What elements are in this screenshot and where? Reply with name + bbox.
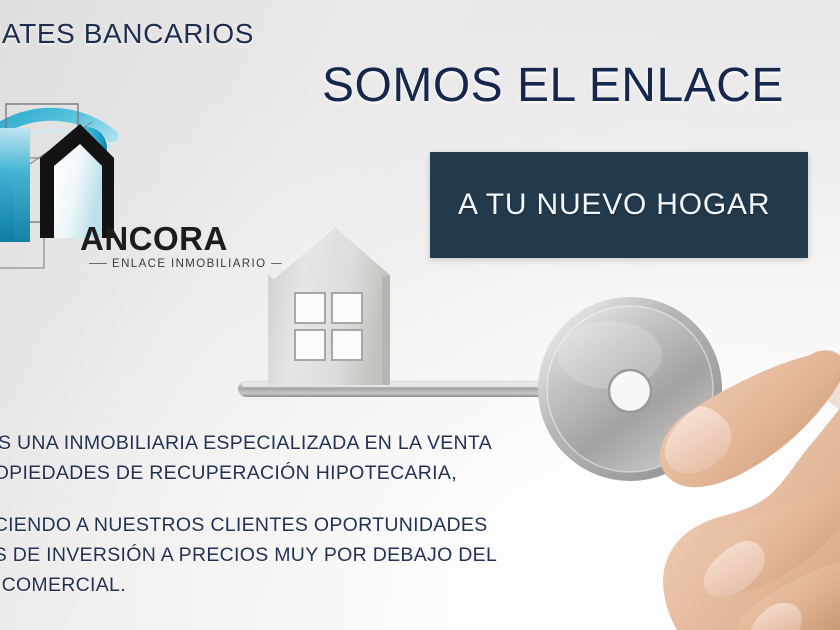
body-copy: MOS UNA INMOBILIARIA ESPECIALIZADA EN LA… [0, 428, 497, 600]
body-line-3: RECIENDO A NUESTROS CLIENTES OPORTUNIDAD… [0, 510, 497, 540]
ancora-logo: ANCORA ENLACE INMOBILIARIO [0, 62, 262, 222]
house-key-head [268, 223, 390, 385]
paragraph-spacer [0, 488, 497, 510]
body-line-4: CAS DE INVERSIÓN A PRECIOS MUY POR DEBAJ… [0, 540, 497, 570]
body-line-5: OR COMERCIAL. [0, 570, 497, 600]
body-line-1: MOS UNA INMOBILIARIA ESPECIALIZADA EN LA… [0, 428, 497, 458]
logo-wordmark: ANCORA [80, 222, 228, 255]
page-title: SOMOS EL ENLACE [322, 58, 784, 113]
body-line-2: PROPIEDADES DE RECUPERACIÓN HIPOTECARIA, [0, 458, 497, 488]
tagline-rule-left [89, 263, 107, 264]
kicker-text: MATES BANCARIOS [0, 18, 254, 50]
flyer-canvas: MATES BANCARIOS [0, 0, 840, 630]
